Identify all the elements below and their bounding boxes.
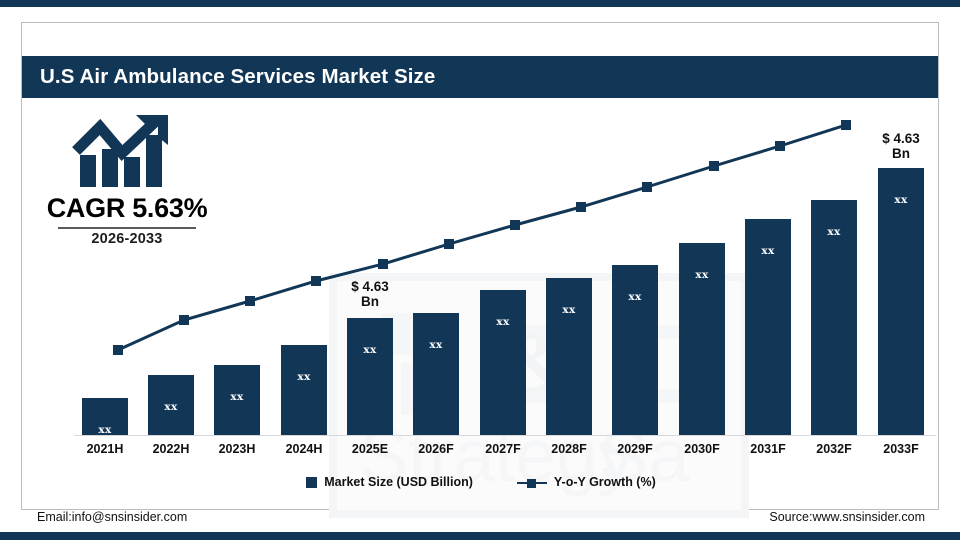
bar-value-label: xx: [894, 194, 907, 206]
bar-2021H: xx: [82, 398, 128, 435]
title-bar: U.S Air Ambulance Services Market Size: [22, 56, 938, 98]
bar-value-label: xx: [429, 339, 442, 351]
bar-callout-2025E: $ 4.63 Bn: [324, 280, 416, 309]
bar-value-label: xx: [695, 269, 708, 281]
bar-value-label: xx: [363, 344, 376, 356]
bar-value-label: xx: [496, 316, 509, 328]
legend-label: Market Size (USD Billion): [324, 475, 473, 489]
x-tick-2033F: 2033F: [855, 442, 947, 456]
bar-2024H: xx: [281, 345, 327, 435]
bar-callout-2033F: $ 4.63 Bn: [855, 132, 947, 161]
content-card: U.S Air Ambulance Services Market Size C…: [21, 22, 939, 510]
bar-2022H: xx: [148, 375, 194, 435]
bar-2023H: xx: [214, 365, 260, 435]
bar-value-label: xx: [297, 371, 310, 383]
bar-2032F: xx: [811, 200, 857, 435]
bar-value-label: xx: [761, 245, 774, 257]
legend-item-market-size[interactable]: Market Size (USD Billion): [306, 475, 473, 489]
bar-2028F: xx: [546, 278, 592, 435]
x-axis-labels: 2021H 2022H 2023H 2024H 2025E 2026F 2027…: [44, 442, 938, 462]
bar-2031F: xx: [745, 219, 791, 435]
chart-baseline: [74, 435, 936, 436]
top-band: [0, 0, 960, 7]
bar-value-label: xx: [562, 304, 575, 316]
legend-item-yoy-growth[interactable]: Y-o-Y Growth (%): [517, 475, 656, 489]
legend-label: Y-o-Y Growth (%): [554, 475, 656, 489]
bar-value-label: xx: [827, 226, 840, 238]
bar-value-label: xx: [230, 391, 243, 403]
bar-2033F: xx: [878, 168, 924, 435]
bar-value-label: xx: [164, 401, 177, 413]
legend-line-square-icon: [517, 477, 547, 488]
bar-2026F: xx: [413, 313, 459, 435]
bar-2030F: xx: [679, 243, 725, 435]
chart-plot-area: & Strategy Sa xx xx xx xx xx xx xx xx xx…: [44, 118, 938, 436]
bar-2029F: xx: [612, 265, 658, 435]
footer-source[interactable]: Source:www.snsinsider.com: [769, 510, 925, 524]
footer-email[interactable]: Email:info@snsinsider.com: [37, 510, 187, 524]
bar-2025E: xx: [347, 318, 393, 435]
bottom-band: [0, 532, 960, 540]
bar-value-label: xx: [98, 424, 111, 436]
bar-value-label: xx: [628, 291, 641, 303]
chart-legend: Market Size (USD Billion) Y-o-Y Growth (…: [22, 475, 940, 489]
infographic-page: U.S Air Ambulance Services Market Size C…: [0, 0, 960, 540]
page-title: U.S Air Ambulance Services Market Size: [40, 65, 435, 89]
footer: Email:info@snsinsider.com Source:www.sns…: [22, 504, 940, 530]
legend-square-icon: [306, 477, 317, 488]
bar-2027F: xx: [480, 290, 526, 435]
